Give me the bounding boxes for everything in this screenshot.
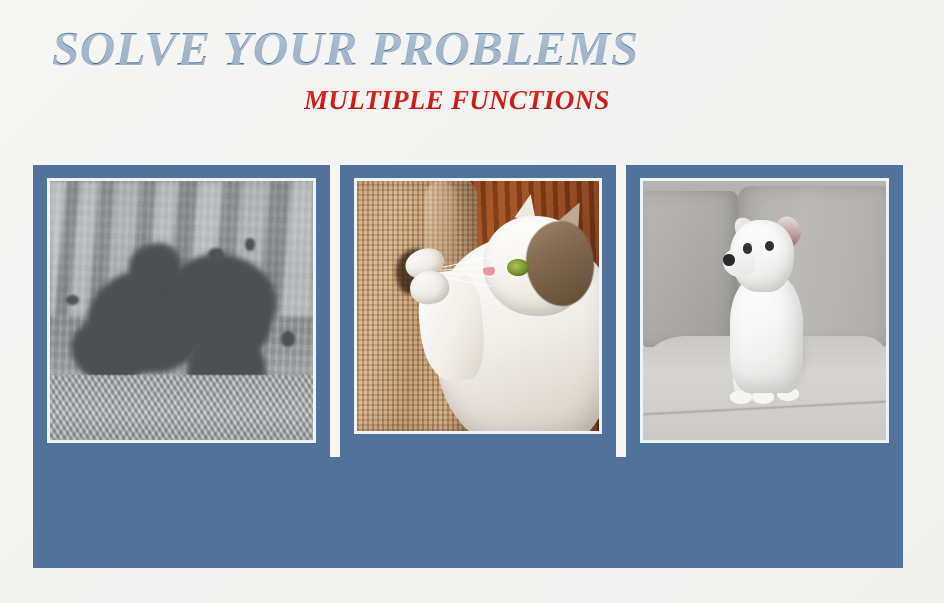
- panel-divider: [616, 165, 626, 457]
- cat-fur-patch: [526, 221, 594, 306]
- panel-cat-image: [357, 181, 599, 431]
- stain-speck: [245, 238, 256, 251]
- cat-eye: [507, 259, 529, 277]
- panel-divider: [330, 165, 340, 457]
- panel-stain-image: [50, 181, 313, 440]
- panel-dog-image: [643, 181, 886, 440]
- stain-speck: [281, 331, 294, 347]
- poster-root: SOLVE YOUR PROBLEMS MULTIPLE FUNCTIONS: [0, 0, 944, 603]
- panel-dog: [626, 165, 903, 457]
- panel-dog-frame: [640, 178, 889, 443]
- stain-blob: [71, 316, 150, 383]
- panel-stain-frame: [47, 178, 316, 443]
- stain-speck: [208, 248, 224, 261]
- panel-cat: [340, 165, 616, 448]
- page-subtitle: MULTIPLE FUNCTIONS: [304, 84, 610, 116]
- panel-row: [33, 165, 903, 457]
- puppy-eye: [743, 243, 753, 253]
- stain-blob: [224, 295, 271, 352]
- panel-stain: [33, 165, 330, 457]
- panel-cat-frame: [354, 178, 602, 434]
- carpet-texture: [50, 375, 313, 440]
- feature-board: Protect your sofa or furniture from dail…: [33, 165, 903, 568]
- page-title: SOLVE YOUR PROBLEMS: [52, 20, 639, 78]
- puppy-body: [730, 274, 803, 393]
- puppy-eye: [765, 241, 775, 251]
- stain-blob: [129, 243, 182, 290]
